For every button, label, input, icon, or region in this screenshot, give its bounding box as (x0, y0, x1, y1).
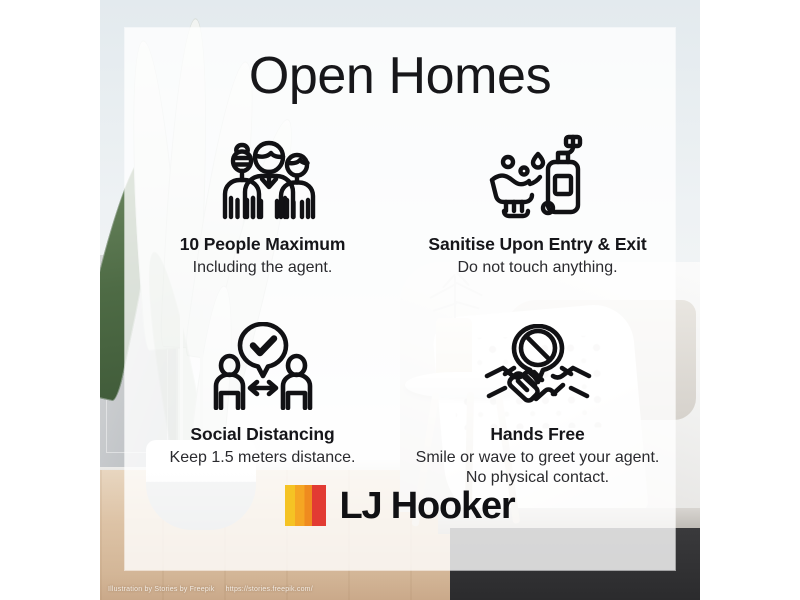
hand-sanitiser-icon (486, 128, 590, 220)
lj-hooker-logo: LJ Hooker (125, 485, 675, 526)
credit-url: https://stories.freepik.com/ (226, 586, 313, 593)
guideline-item-hands-free: Hands Free Smile or wave to greet your a… (400, 318, 675, 508)
page-title: Open Homes (125, 50, 675, 102)
poster-canvas: Open Homes (0, 0, 800, 600)
guideline-sub: Do not touch anything. (457, 258, 617, 278)
credit-text: Illustration by Stories by Freepik (108, 586, 214, 593)
credit-line: Illustration by Stories by Freepik https… (108, 586, 313, 593)
guideline-sub: Smile or wave to greet your agent. No ph… (416, 448, 660, 489)
guideline-heading: Sanitise Upon Entry & Exit (428, 234, 646, 255)
guideline-sub: Keep 1.5 meters distance. (170, 448, 356, 468)
guidelines-grid: 10 People Maximum Including the agent. (125, 128, 675, 508)
guideline-heading: Social Distancing (190, 424, 334, 445)
guideline-item-people-maximum: 10 People Maximum Including the agent. (125, 128, 400, 318)
guideline-sub: Including the agent. (193, 258, 333, 278)
lj-hooker-wordmark: LJ Hooker (339, 487, 514, 525)
guideline-heading: Hands Free (490, 424, 584, 445)
guideline-item-sanitise: Sanitise Upon Entry & Exit Do not touch … (400, 128, 675, 318)
guideline-item-social-distancing: Social Distancing Keep 1.5 meters distan… (125, 318, 400, 508)
social-distancing-icon (210, 318, 316, 410)
three-people-icon (209, 128, 317, 220)
no-handshake-icon (483, 318, 593, 410)
lj-hooker-stripes-icon (285, 485, 326, 526)
content-card: Open Homes (125, 28, 675, 570)
guideline-heading: 10 People Maximum (180, 234, 346, 255)
